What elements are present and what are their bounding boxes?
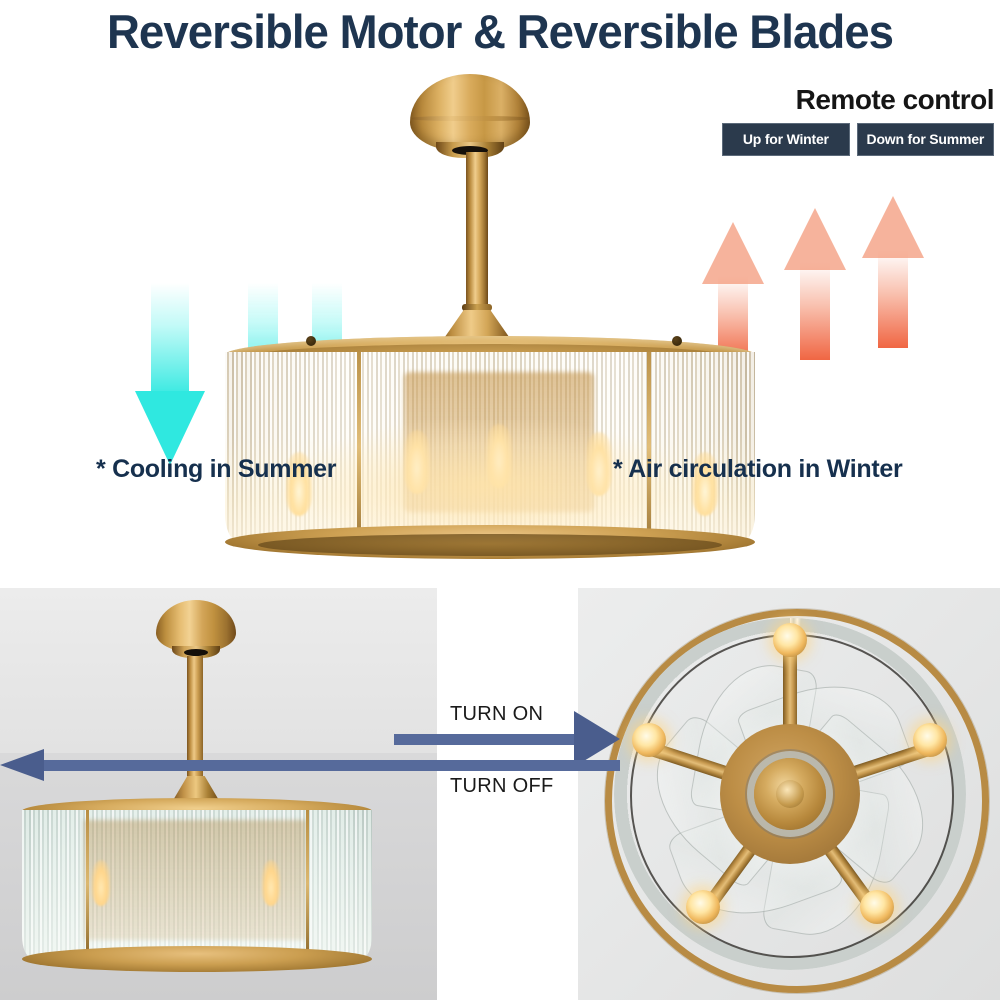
canopy-band	[412, 116, 528, 121]
arrow-bar	[38, 760, 620, 771]
fan-on-photo-panel	[578, 588, 1000, 1000]
page-title: Reversible Motor & Reversible Blades	[15, 4, 985, 59]
light-bulb	[92, 860, 110, 906]
remote-button-row: Up for Winter Down for Summer	[722, 123, 994, 156]
caption-air-circulation-winter: * Air circulation in Winter	[613, 455, 902, 484]
light-bulb	[913, 723, 947, 757]
light-bulb	[773, 623, 807, 657]
hub-center	[776, 780, 804, 808]
drum-seam	[647, 352, 651, 542]
arrow-bar	[394, 734, 588, 745]
up-for-winter-button[interactable]: Up for Winter	[722, 123, 850, 156]
light-bulb	[486, 424, 512, 488]
downrod-collar	[462, 304, 492, 311]
turn-off-label: TURN OFF	[450, 775, 554, 798]
light-bulb	[586, 432, 612, 496]
drum-seam	[357, 352, 361, 542]
caption-cooling-summer: * Cooling in Summer	[96, 455, 336, 484]
fan-off-photo-panel	[0, 588, 437, 1000]
arrow-head-left	[0, 749, 44, 781]
drum-knob	[672, 336, 682, 346]
downrod	[466, 152, 488, 310]
infographic-root: * Cooling in Summer * Air circulation in…	[0, 0, 1000, 1000]
light-bulb	[632, 723, 666, 757]
remote-control-heading: Remote control	[722, 86, 994, 114]
light-bulb	[262, 860, 280, 906]
down-for-summer-button[interactable]: Down for Summer	[857, 123, 994, 156]
drum-seam	[86, 810, 89, 958]
turn-on-arrow	[394, 729, 618, 749]
canopy-dome	[410, 74, 530, 152]
drum-seam	[306, 810, 309, 958]
turn-on-label: TURN ON	[450, 703, 543, 726]
drum-bottom-rim	[22, 946, 372, 972]
turn-off-arrow	[0, 755, 620, 775]
light-bulb	[404, 430, 430, 494]
remote-control-block: Remote control Up for Winter Down for Su…	[722, 86, 994, 156]
light-bulb	[860, 890, 894, 924]
drum-bottom-inner	[258, 534, 722, 556]
light-bulb	[686, 890, 720, 924]
canopy-opening	[184, 649, 208, 656]
drum-knob	[306, 336, 316, 346]
